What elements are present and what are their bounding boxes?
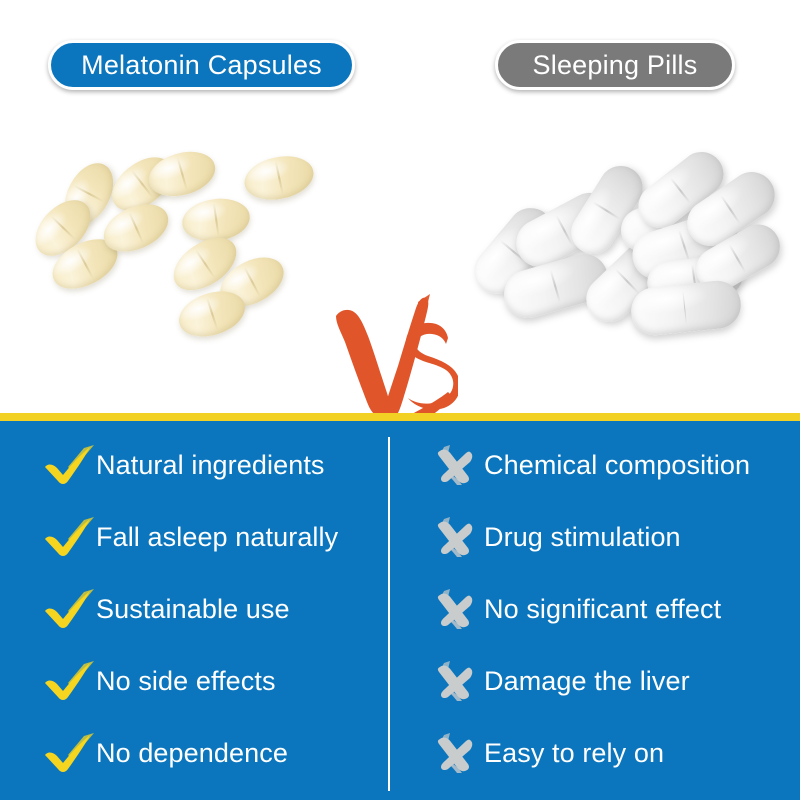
list-item-label: No dependence	[96, 740, 288, 767]
list-item: Fall asleep naturally	[42, 517, 338, 557]
media-band	[0, 120, 800, 413]
drawbacks-column: Chemical composition Drug stimulation	[430, 421, 790, 800]
list-item-label: Fall asleep naturally	[96, 524, 338, 551]
header-pill-melatonin-capsules: Melatonin Capsules	[48, 40, 355, 90]
header-pill-sleeping-pills: Sleeping Pills	[495, 40, 735, 90]
cross-mark-icon	[430, 589, 484, 629]
cross-mark-icon	[430, 733, 484, 773]
sleeping-pills-photo	[455, 150, 775, 370]
list-item: No side effects	[42, 661, 276, 701]
list-item: Sustainable use	[42, 589, 290, 629]
column-divider	[388, 437, 390, 791]
benefits-column: Natural ingredients Fall asleep naturall…	[42, 421, 382, 800]
header-pill-right-label: Sleeping Pills	[533, 50, 698, 81]
list-item-label: Chemical composition	[484, 452, 750, 479]
header-pill-left-label: Melatonin Capsules	[81, 50, 322, 81]
list-item-label: Easy to rely on	[484, 740, 664, 767]
comparison-panel: Natural ingredients Fall asleep naturall…	[0, 421, 800, 800]
list-item: No dependence	[42, 733, 288, 773]
list-item: Chemical composition	[430, 445, 750, 485]
list-item-label: Natural ingredients	[96, 452, 325, 479]
list-item-label: No side effects	[96, 668, 276, 695]
list-item: Easy to rely on	[430, 733, 664, 773]
list-item-label: Drug stimulation	[484, 524, 681, 551]
check-mark-icon	[42, 589, 96, 629]
header-row: Melatonin Capsules Sleeping Pills	[0, 0, 800, 110]
list-item-label: No significant effect	[484, 596, 721, 623]
accent-divider-rule	[0, 413, 800, 421]
cross-mark-icon	[430, 661, 484, 701]
check-mark-icon	[42, 445, 96, 485]
check-mark-icon	[42, 517, 96, 557]
cross-mark-icon	[430, 445, 484, 485]
list-item: Damage the liver	[430, 661, 690, 701]
list-item: Drug stimulation	[430, 517, 681, 557]
list-item: No significant effect	[430, 589, 721, 629]
check-mark-icon	[42, 733, 96, 773]
list-item-label: Sustainable use	[96, 596, 290, 623]
cross-mark-icon	[430, 517, 484, 557]
melatonin-capsules-photo	[22, 155, 332, 365]
check-mark-icon	[42, 661, 96, 701]
list-item: Natural ingredients	[42, 445, 325, 485]
comparison-infographic: Melatonin Capsules Sleeping Pills	[0, 0, 800, 800]
list-item-label: Damage the liver	[484, 668, 690, 695]
